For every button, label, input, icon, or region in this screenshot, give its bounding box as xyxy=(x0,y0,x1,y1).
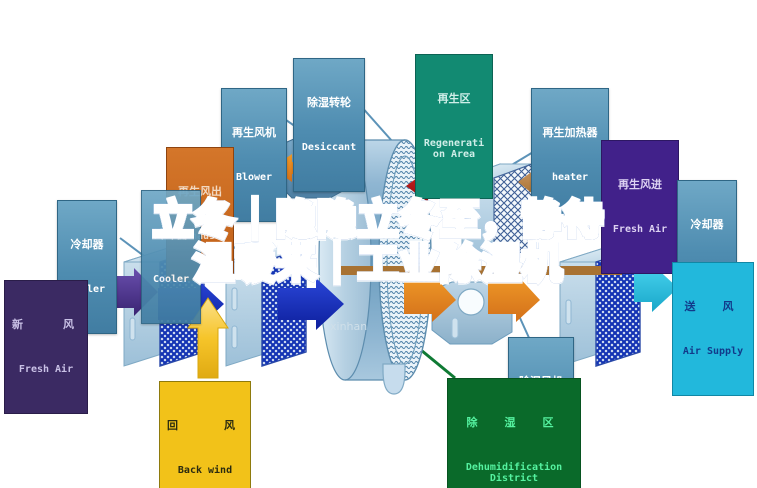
drain-tray xyxy=(383,364,405,394)
label-air-supply-en: Air Supply xyxy=(676,347,750,358)
label-regen-fresh-air-cn: 再生风进 xyxy=(606,179,674,191)
svg-text:xinhan: xinhan xyxy=(330,320,367,333)
label-regen-heater: 再生加热器 heater xyxy=(531,88,609,222)
label-regeneration-area: 再生区 Regenerati on Area xyxy=(415,54,493,199)
label-cooler-mid: 冷却器 Cooler xyxy=(141,190,201,324)
label-fresh-air-in: 新 风 Fresh Air xyxy=(4,280,88,414)
label-dehumidification-district-cn: 除 湿 区 xyxy=(451,417,577,429)
label-desiccant-rotor-cn: 除湿转轮 xyxy=(298,97,360,109)
label-regen-heater-cn: 再生加热器 xyxy=(536,127,604,139)
label-cooler-mid-cn: 冷却器 xyxy=(146,229,196,241)
label-back-wind: 回 风 Back wind xyxy=(159,381,251,488)
label-fresh-air-in-en: Fresh Air xyxy=(8,365,84,376)
label-regen-fresh-air: 再生风进 Fresh Air xyxy=(601,140,679,274)
label-dehumidification-district-en: Dehumidification District xyxy=(451,463,577,485)
label-desiccant-rotor-en: Desiccant xyxy=(298,143,360,154)
label-cooler-mid-en: Cooler xyxy=(146,275,196,286)
label-fresh-air-in-cn: 新 风 xyxy=(8,319,84,331)
label-air-supply: 送 风 Air Supply xyxy=(672,262,754,396)
label-regen-fresh-air-en: Fresh Air xyxy=(606,225,674,236)
diagram-canvas: xinhan xyxy=(0,0,757,488)
label-regeneration-area-en: Regenerati on Area xyxy=(419,139,489,161)
label-back-wind-cn: 回 风 xyxy=(163,420,247,432)
label-air-supply-cn: 送 风 xyxy=(676,301,750,313)
label-regen-heater-en: heater xyxy=(536,173,604,184)
label-desiccant-rotor: 除湿转轮 Desiccant xyxy=(293,58,365,192)
label-cooler-left-cn: 冷却器 xyxy=(62,239,112,251)
label-cooler-right-cn: 冷却器 xyxy=(682,219,732,231)
label-regen-blower-cn: 再生风机 xyxy=(226,127,282,139)
label-regen-blower-en: Blower xyxy=(226,173,282,184)
label-back-wind-en: Back wind xyxy=(163,466,247,477)
label-dehumidification-district: 除 湿 区 Dehumidification District xyxy=(447,378,581,488)
label-regeneration-area-cn: 再生区 xyxy=(419,93,489,105)
